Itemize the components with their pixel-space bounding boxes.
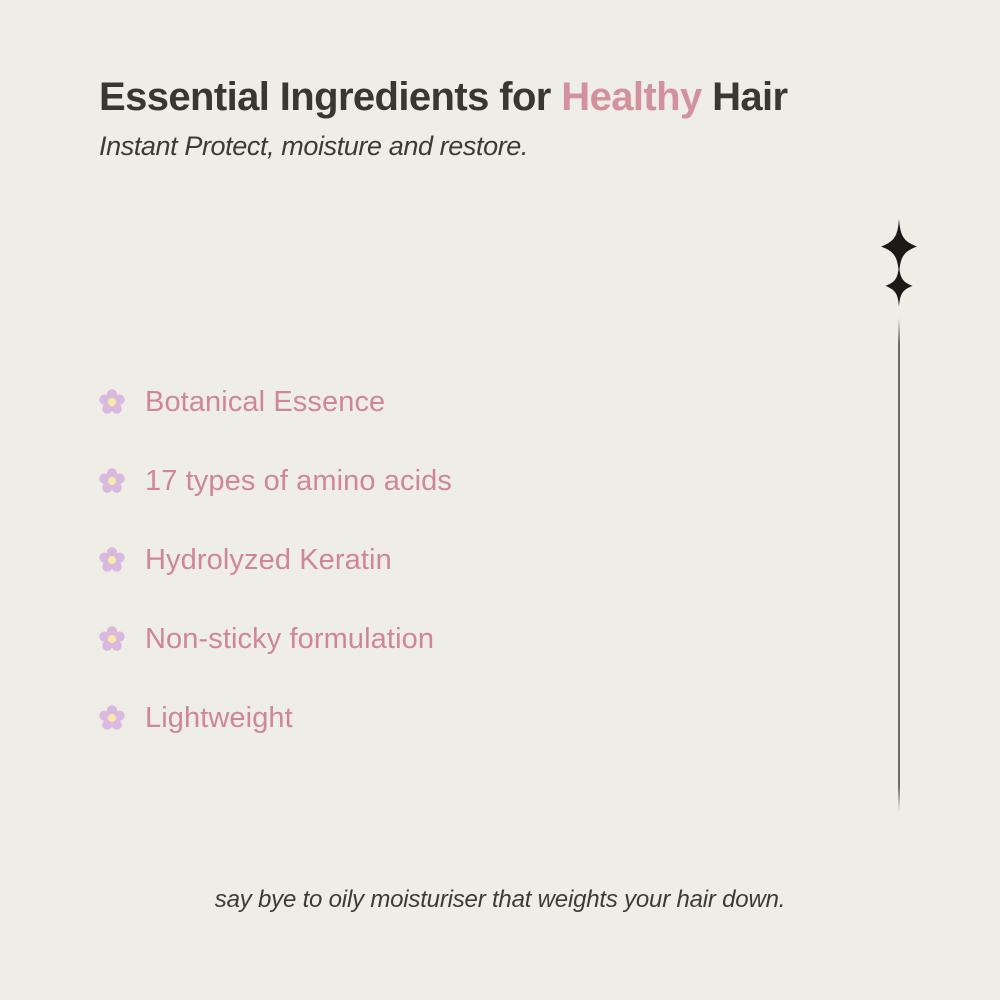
- title-accent-word: Healthy: [561, 75, 701, 119]
- flower-icon: [99, 705, 125, 731]
- list-item: Botanical Essence: [99, 362, 719, 441]
- list-item-label: 17 types of amino acids: [145, 464, 452, 498]
- footer-caption: say bye to oily moisturiser that weights…: [0, 884, 1000, 916]
- flower-icon: [99, 626, 125, 652]
- list-item: 17 types of amino acids: [99, 441, 719, 520]
- page-title: Essential Ingredients for Healthy Hair: [99, 72, 788, 122]
- list-item-label: Botanical Essence: [145, 385, 385, 419]
- promo-graphic: Essential Ingredients for Healthy Hair I…: [0, 0, 1000, 1000]
- title-text-leading: Essential Ingredients for: [99, 75, 561, 119]
- list-item: Hydrolyzed Keratin: [99, 520, 719, 599]
- sparkle-divider-ornament: [860, 205, 940, 820]
- flower-icon: [99, 389, 125, 415]
- flower-icon: [99, 468, 125, 494]
- list-item-label: Hydrolyzed Keratin: [145, 543, 392, 577]
- list-item: Lightweight: [99, 678, 719, 757]
- sparkle-icon: [885, 265, 912, 307]
- vertical-divider-line: [898, 318, 900, 811]
- ingredient-list: Botanical Essence 17 types of amino acid…: [99, 362, 719, 757]
- flower-icon: [99, 547, 125, 573]
- sparkle-icon: [881, 219, 917, 274]
- title-text-trailing: Hair: [702, 75, 788, 119]
- list-item-label: Lightweight: [145, 701, 293, 735]
- list-item-label: Non-sticky formulation: [145, 622, 434, 656]
- list-item: Non-sticky formulation: [99, 599, 719, 678]
- page-subtitle: Instant Protect, moisture and restore.: [99, 128, 528, 164]
